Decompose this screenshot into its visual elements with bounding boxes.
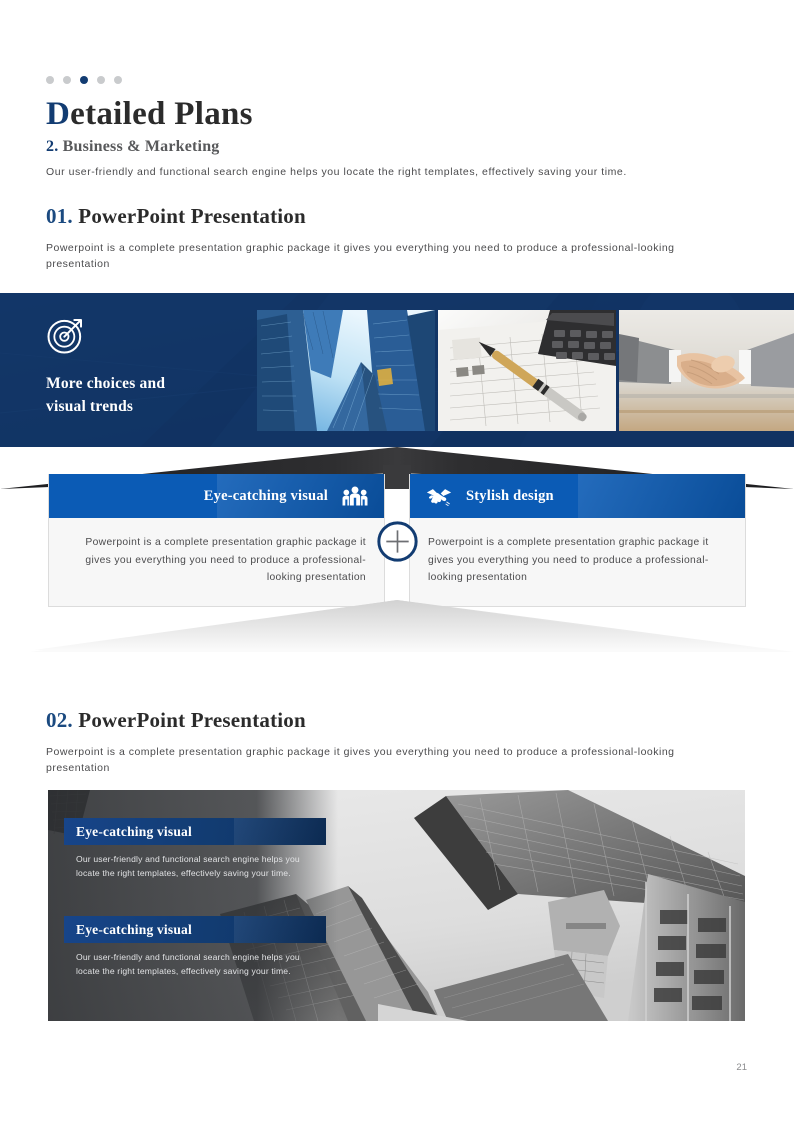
- overlay-block-2: Eye-catching visual Our user-friendly an…: [64, 916, 326, 978]
- section-2-index: 02.: [46, 708, 73, 732]
- page-subtitle-text: Business & Marketing: [58, 138, 219, 155]
- banner-headline-line-2: visual trends: [46, 395, 246, 418]
- document-pen-calculator-photo: [438, 310, 616, 431]
- people-group-icon: [342, 485, 368, 507]
- overlay-header-1: Eye-catching visual: [64, 818, 326, 845]
- handshake-icon: [426, 485, 452, 507]
- page-number: 21: [736, 1062, 747, 1073]
- section-1-heading-text: PowerPoint Presentation: [73, 204, 306, 228]
- section-2-body: Powerpoint is a complete presentation gr…: [46, 745, 736, 776]
- page-subtitle: 2. Business & Marketing: [46, 138, 220, 156]
- section-1-heading: 01. PowerPoint Presentation: [46, 204, 306, 229]
- blue-banner: More choices and visual trends: [0, 293, 794, 447]
- banner-headline-line-1: More choices and: [46, 372, 246, 395]
- page-title-initial: D: [46, 96, 70, 132]
- feature-card-title: Stylish design: [466, 488, 554, 505]
- document-pen-calculator-photo-art: [438, 310, 616, 431]
- page-title: Detailed Plans: [46, 96, 253, 133]
- pagination-dot[interactable]: [63, 76, 71, 84]
- slide: Detailed Plans 2. Business & Marketing O…: [0, 0, 794, 1123]
- feature-card-header: Stylish design: [410, 474, 745, 518]
- handshake-photo: [619, 310, 794, 431]
- skyscrapers-blue-photo: [257, 310, 435, 431]
- page-title-rest: etailed Plans: [70, 96, 253, 132]
- pagination-dot[interactable]: [46, 76, 54, 84]
- pagination-dots: [46, 76, 122, 84]
- bottom-photo-panel: Eye-catching visual Our user-friendly an…: [48, 790, 745, 1021]
- pagination-dot[interactable]: [114, 76, 122, 84]
- overlay-title-1: Eye-catching visual: [76, 824, 192, 840]
- target-icon: [46, 315, 86, 355]
- feature-card-title: Eye-catching visual: [204, 488, 328, 505]
- banner-photo-strip: [257, 310, 794, 431]
- page-subtitle-number: 2.: [46, 138, 58, 155]
- feature-card-header: Eye-catching visual: [49, 474, 384, 518]
- banner-headline: More choices and visual trends: [46, 372, 246, 418]
- banner-left-content: More choices and visual trends: [46, 315, 246, 418]
- page-lede: Our user-friendly and functional search …: [46, 165, 746, 180]
- overlay-body-2: Our user-friendly and functional search …: [64, 951, 312, 978]
- plus-circle-icon[interactable]: [377, 521, 418, 562]
- feature-card-body: Powerpoint is a complete presentation gr…: [410, 518, 745, 587]
- section-2-heading: 02. PowerPoint Presentation: [46, 708, 306, 733]
- overlay-body-1: Our user-friendly and functional search …: [64, 853, 312, 880]
- overlay-header-2: Eye-catching visual: [64, 916, 326, 943]
- skyscrapers-blue-photo-art: [257, 310, 435, 431]
- section-1-index: 01.: [46, 204, 73, 228]
- pagination-dot[interactable]: [97, 76, 105, 84]
- feature-card-stylish-design[interactable]: Stylish design Powerpoint is a complete …: [409, 474, 746, 607]
- section-1-body: Powerpoint is a complete presentation gr…: [46, 241, 736, 272]
- pagination-dot-active[interactable]: [80, 76, 88, 84]
- overlay-block-1: Eye-catching visual Our user-friendly an…: [64, 818, 326, 880]
- section-2-heading-text: PowerPoint Presentation: [73, 708, 306, 732]
- handshake-photo-art: [619, 310, 794, 431]
- feature-card-eye-catching-visual[interactable]: Eye-catching visual Powerpoint is a comp…: [48, 474, 385, 607]
- feature-card-body: Powerpoint is a complete presentation gr…: [49, 518, 384, 587]
- overlay-title-2: Eye-catching visual: [76, 922, 192, 938]
- light-chevron-shadow: [0, 600, 794, 658]
